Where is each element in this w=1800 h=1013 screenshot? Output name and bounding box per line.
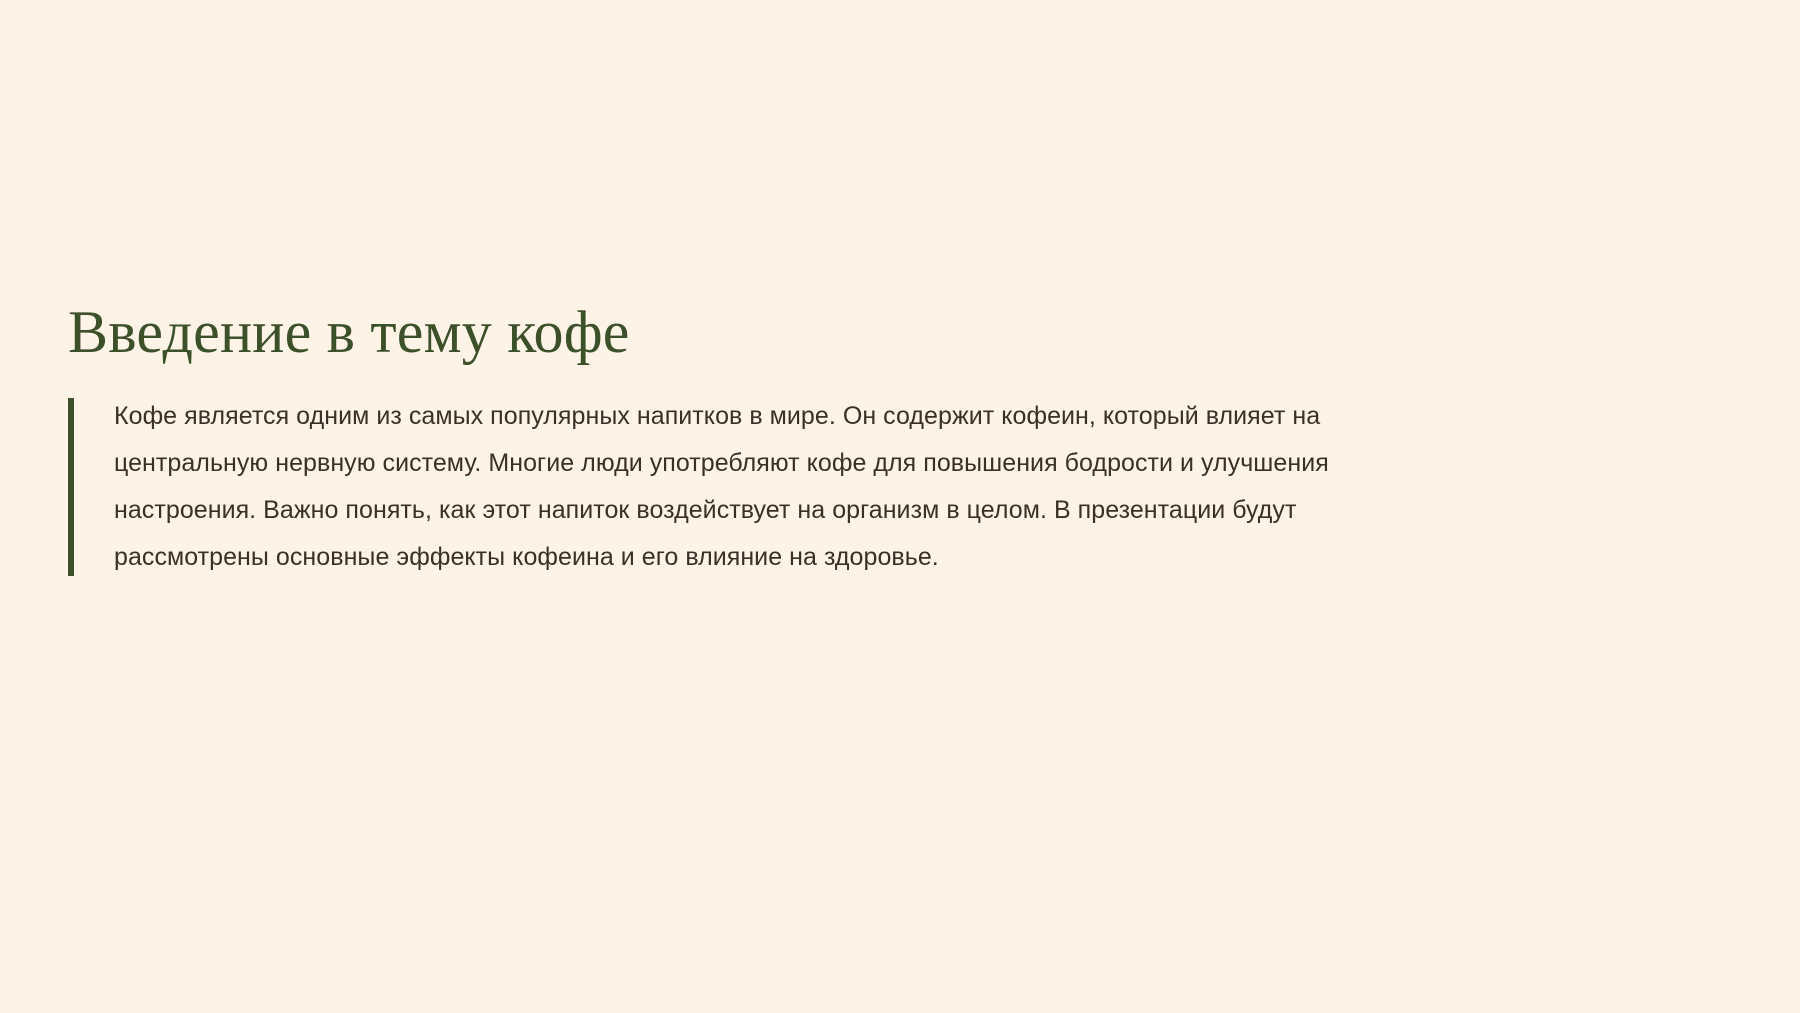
slide-body-paragraph: Кофе является одним из самых популярных … (114, 393, 1404, 581)
presentation-slide: Введение в тему кофе Кофе является одним… (0, 0, 1800, 1013)
accent-bar (68, 398, 74, 576)
body-quote-block: Кофе является одним из самых популярных … (68, 393, 1468, 581)
slide-content-block: Введение в тему кофе Кофе является одним… (68, 300, 1468, 581)
page-title: Введение в тему кофе (68, 300, 1468, 365)
